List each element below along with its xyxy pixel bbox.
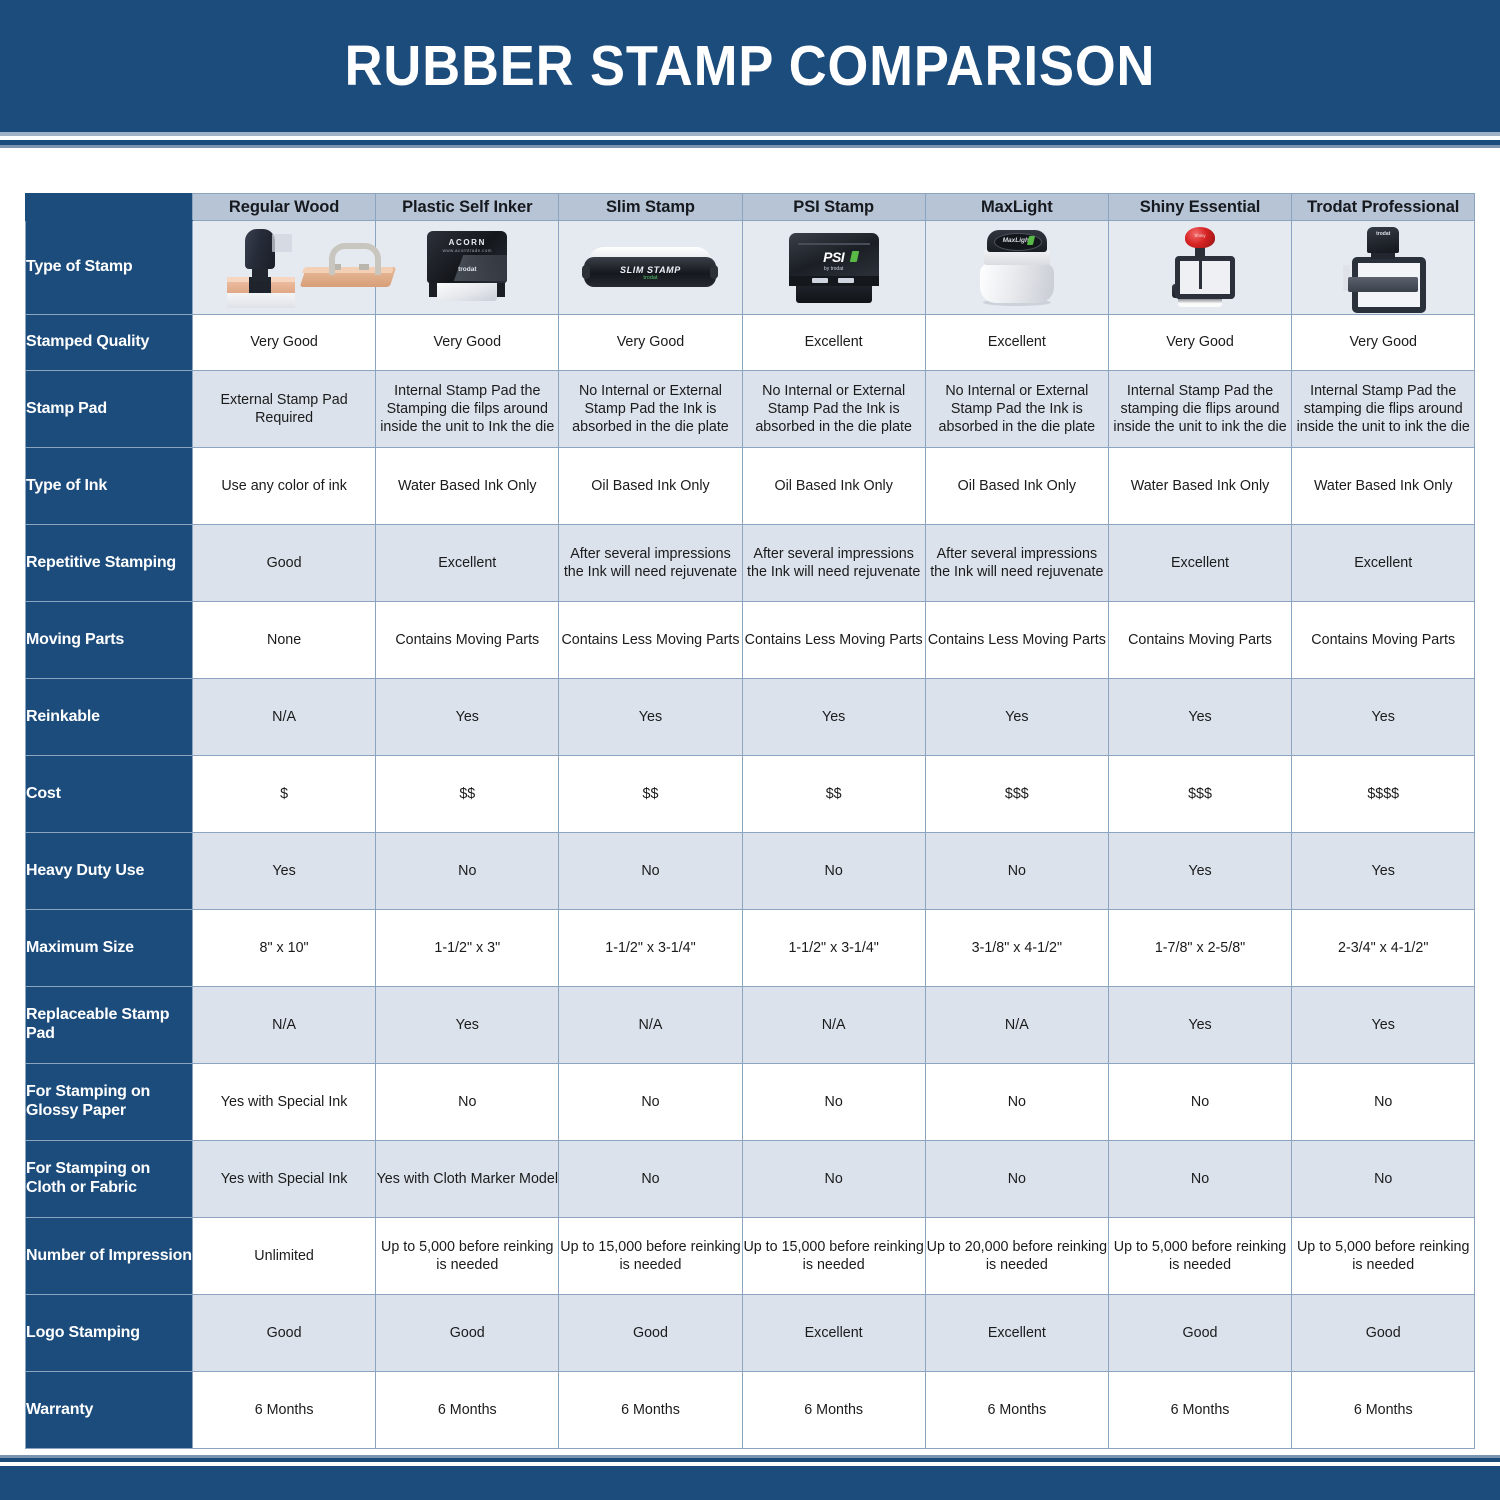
cell-replaceable-stamp-pad-plastic-self-inker: Yes [376,987,559,1064]
cell-repetitive-stamping-plastic-self-inker: Excellent [376,525,559,602]
poster-root: RUBBER STAMP COMPARISON Regular Wood Pla… [0,0,1500,1500]
cell-reinkable-shiny-essential: Yes [1108,679,1291,756]
cell-stamped-quality-regular-wood: Very Good [193,315,376,371]
column-header-maxlight[interactable]: MaxLight [925,194,1108,221]
cell-repetitive-stamping-shiny-essential: Excellent [1108,525,1291,602]
cell-replaceable-stamp-pad-slim-stamp: N/A [559,987,742,1064]
column-header-slim-stamp[interactable]: Slim Stamp [559,194,742,221]
cell-logo-stamping-slim-stamp: Good [559,1295,742,1372]
cell-logo-stamping-regular-wood: Good [193,1295,376,1372]
cell-maximum-size-regular-wood: 8" x 10" [193,910,376,987]
cell-moving-parts-plastic-self-inker: Contains Moving Parts [376,602,559,679]
cell-number-of-impression-shiny-essential: Up to 5,000 before reinking is needed [1108,1218,1291,1295]
cell-heavy-duty-use-trodat-professional: Yes [1292,833,1475,910]
table-row: Maximum Size 8" x 10" 1-1/2" x 3" 1-1/2"… [26,910,1475,987]
cell-type-of-stamp-regular-wood [193,221,376,315]
acorn-self-inking-stamp-icon: ACORN www.acorntrade.com trodat [376,221,558,314]
cell-moving-parts-psi-stamp: Contains Less Moving Parts [742,602,925,679]
cell-stamp-pad-regular-wood: External Stamp Pad Required [193,371,376,448]
cell-stamp-pad-psi-stamp: No Internal or External Stamp Pad the In… [742,371,925,448]
cell-type-of-stamp-slim-stamp: SLIM STAMP trodat [559,221,742,315]
cell-stamped-quality-maxlight: Excellent [925,315,1108,371]
table-row: Number of Impression Unlimited Up to 5,0… [26,1218,1475,1295]
cell-maximum-size-psi-stamp: 1-1/2" x 3-1/4" [742,910,925,987]
cell-cloth-fabric-maxlight: No [925,1141,1108,1218]
cell-cost-plastic-self-inker: $$ [376,756,559,833]
cell-repetitive-stamping-trodat-professional: Excellent [1292,525,1475,602]
cell-repetitive-stamping-regular-wood: Good [193,525,376,602]
cell-cloth-fabric-psi-stamp: No [742,1141,925,1218]
cell-stamp-pad-maxlight: No Internal or External Stamp Pad the In… [925,371,1108,448]
cell-stamped-quality-shiny-essential: Very Good [1108,315,1291,371]
cell-cost-trodat-professional: $$$$ [1292,756,1475,833]
column-header-psi-stamp[interactable]: PSI Stamp [742,194,925,221]
table-row: Heavy Duty Use Yes No No No No Yes Yes [26,833,1475,910]
cell-reinkable-psi-stamp: Yes [742,679,925,756]
table-row: Repetitive Stamping Good Excellent After… [26,525,1475,602]
cell-warranty-maxlight: 6 Months [925,1372,1108,1449]
cell-cloth-fabric-regular-wood: Yes with Special Ink [193,1141,376,1218]
cell-heavy-duty-use-psi-stamp: No [742,833,925,910]
row-label-for-stamping-on-cloth-or-fabric: For Stamping on Cloth or Fabric [26,1141,193,1218]
cell-type-of-stamp-plastic-self-inker: ACORN www.acorntrade.com trodat [376,221,559,315]
cell-heavy-duty-use-slim-stamp: No [559,833,742,910]
cell-heavy-duty-use-shiny-essential: Yes [1108,833,1291,910]
cell-stamp-pad-trodat-professional: Internal Stamp Pad the stamping die flip… [1292,371,1475,448]
row-label-reinkable: Reinkable [26,679,193,756]
row-label-logo-stamping: Logo Stamping [26,1295,193,1372]
cell-type-of-stamp-psi-stamp: PSI by trodat [742,221,925,315]
table-row: Type of Ink Use any color of ink Water B… [26,448,1475,525]
cell-glossy-paper-slim-stamp: No [559,1064,742,1141]
cell-stamped-quality-trodat-professional: Very Good [1292,315,1475,371]
table-row: For Stamping on Glossy Paper Yes with Sp… [26,1064,1475,1141]
cell-glossy-paper-regular-wood: Yes with Special Ink [193,1064,376,1141]
psi-sub-text: by trodat [820,266,848,272]
page-title: RUBBER STAMP COMPARISON [60,0,1440,132]
cell-reinkable-regular-wood: N/A [193,679,376,756]
cell-cloth-fabric-plastic-self-inker: Yes with Cloth Marker Model [376,1141,559,1218]
cell-cost-regular-wood: $ [193,756,376,833]
cell-glossy-paper-shiny-essential: No [1108,1064,1291,1141]
cell-type-of-stamp-maxlight: MaxLight [925,221,1108,315]
trodat-professional-stamp-icon: trodat [1292,221,1474,314]
cell-warranty-plastic-self-inker: 6 Months [376,1372,559,1449]
column-header-trodat-professional[interactable]: Trodat Professional [1292,194,1475,221]
cell-stamp-pad-shiny-essential: Internal Stamp Pad the stamping die flip… [1108,371,1291,448]
cell-stamped-quality-plastic-self-inker: Very Good [376,315,559,371]
cell-replaceable-stamp-pad-psi-stamp: N/A [742,987,925,1064]
psi-brand-text: PSI [812,249,856,266]
wood-handle-stamp-icon [193,221,375,314]
cell-logo-stamping-psi-stamp: Excellent [742,1295,925,1372]
row-label-type-of-ink: Type of Ink [26,448,193,525]
cell-warranty-trodat-professional: 6 Months [1292,1372,1475,1449]
cell-maximum-size-shiny-essential: 1-7/8" x 2-5/8" [1108,910,1291,987]
cell-heavy-duty-use-maxlight: No [925,833,1108,910]
cell-replaceable-stamp-pad-regular-wood: N/A [193,987,376,1064]
cell-cloth-fabric-trodat-professional: No [1292,1141,1475,1218]
cell-logo-stamping-trodat-professional: Good [1292,1295,1475,1372]
cell-warranty-shiny-essential: 6 Months [1108,1372,1291,1449]
table-row: Stamp Pad External Stamp Pad Required In… [26,371,1475,448]
cell-glossy-paper-maxlight: No [925,1064,1108,1141]
cell-logo-stamping-maxlight: Excellent [925,1295,1108,1372]
cell-number-of-impression-trodat-professional: Up to 5,000 before reinking is needed [1292,1218,1475,1295]
table-row: Stamped Quality Very Good Very Good Very… [26,315,1475,371]
cell-moving-parts-maxlight: Contains Less Moving Parts [925,602,1108,679]
table-row: Reinkable N/A Yes Yes Yes Yes Yes Yes [26,679,1475,756]
cell-warranty-slim-stamp: 6 Months [559,1372,742,1449]
shiny-brand-text: Shiny [1189,233,1211,239]
cell-moving-parts-slim-stamp: Contains Less Moving Parts [559,602,742,679]
comparison-table-wrapper: Regular Wood Plastic Self Inker Slim Sta… [25,193,1475,1449]
row-label-heavy-duty-use: Heavy Duty Use [26,833,193,910]
column-header-plastic-self-inker[interactable]: Plastic Self Inker [376,194,559,221]
table-corner-cell [26,194,193,221]
cell-warranty-regular-wood: 6 Months [193,1372,376,1449]
table-row: Warranty 6 Months 6 Months 6 Months 6 Mo… [26,1372,1475,1449]
slim-stamp-sub-text: trodat [630,275,670,282]
cell-number-of-impression-plastic-self-inker: Up to 5,000 before reinking is needed [376,1218,559,1295]
trodat-cap-brand-text: trodat [1371,231,1395,237]
table-row: Replaceable Stamp Pad N/A Yes N/A N/A N/… [26,987,1475,1064]
row-label-maximum-size: Maximum Size [26,910,193,987]
row-label-number-of-impression: Number of Impression [26,1218,193,1295]
cell-replaceable-stamp-pad-trodat-professional: Yes [1292,987,1475,1064]
title-banner: RUBBER STAMP COMPARISON [0,0,1500,132]
table-row: Logo Stamping Good Good Good Excellent E… [26,1295,1475,1372]
table-row: Type of Stamp [26,221,1475,315]
cell-reinkable-trodat-professional: Yes [1292,679,1475,756]
cell-stamped-quality-psi-stamp: Excellent [742,315,925,371]
cell-heavy-duty-use-plastic-self-inker: No [376,833,559,910]
cell-glossy-paper-trodat-professional: No [1292,1064,1475,1141]
table-row: Cost $ $$ $$ $$ $$$ $$$ $$$$ [26,756,1475,833]
cell-warranty-psi-stamp: 6 Months [742,1372,925,1449]
cell-type-of-ink-maxlight: Oil Based Ink Only [925,448,1108,525]
cell-type-of-ink-shiny-essential: Water Based Ink Only [1108,448,1291,525]
banner-divider-4 [0,145,1500,148]
cell-repetitive-stamping-maxlight: After several impressions the Ink will n… [925,525,1108,602]
cell-number-of-impression-slim-stamp: Up to 15,000 before reinking is needed [559,1218,742,1295]
cell-heavy-duty-use-regular-wood: Yes [193,833,376,910]
cell-cost-psi-stamp: $$ [742,756,925,833]
acorn-brand-text: ACORN [437,238,497,247]
stamp-comparison-table: Regular Wood Plastic Self Inker Slim Sta… [25,193,1475,1449]
psi-stamp-icon: PSI by trodat [743,221,925,314]
cell-maximum-size-slim-stamp: 1-1/2" x 3-1/4" [559,910,742,987]
cell-type-of-ink-trodat-professional: Water Based Ink Only [1292,448,1475,525]
cell-replaceable-stamp-pad-shiny-essential: Yes [1108,987,1291,1064]
cell-glossy-paper-psi-stamp: No [742,1064,925,1141]
cell-number-of-impression-maxlight: Up to 20,000 before reinking is needed [925,1218,1108,1295]
cell-repetitive-stamping-psi-stamp: After several impressions the Ink will n… [742,525,925,602]
cell-cost-maxlight: $$$ [925,756,1108,833]
cell-replaceable-stamp-pad-maxlight: N/A [925,987,1108,1064]
cell-cost-shiny-essential: $$$ [1108,756,1291,833]
cell-stamp-pad-plastic-self-inker: Internal Stamp Pad the Stamping die filp… [376,371,559,448]
row-label-stamp-pad: Stamp Pad [26,371,193,448]
cell-type-of-stamp-trodat-professional: trodat [1292,221,1475,315]
cell-moving-parts-regular-wood: None [193,602,376,679]
row-label-type-of-stamp: Type of Stamp [26,221,193,315]
cell-stamp-pad-slim-stamp: No Internal or External Stamp Pad the In… [559,371,742,448]
cell-moving-parts-shiny-essential: Contains Moving Parts [1108,602,1291,679]
row-label-repetitive-stamping: Repetitive Stamping [26,525,193,602]
trodat-brand-text: trodat [449,266,485,274]
cell-glossy-paper-plastic-self-inker: No [376,1064,559,1141]
cell-maximum-size-trodat-professional: 2-3/4" x 4-1/2" [1292,910,1475,987]
maxlight-round-stamp-icon: MaxLight [926,221,1108,314]
acorn-url-text: www.acorntrade.com [437,248,497,254]
footer-banner [0,1466,1500,1500]
cell-type-of-ink-plastic-self-inker: Water Based Ink Only [376,448,559,525]
table-header-row: Regular Wood Plastic Self Inker Slim Sta… [26,194,1475,221]
row-label-stamped-quality: Stamped Quality [26,315,193,371]
table-row: For Stamping on Cloth or Fabric Yes with… [26,1141,1475,1218]
row-label-warranty: Warranty [26,1372,193,1449]
cell-maximum-size-maxlight: 3-1/8" x 4-1/2" [925,910,1108,987]
cell-repetitive-stamping-slim-stamp: After several impressions the Ink will n… [559,525,742,602]
cell-type-of-ink-regular-wood: Use any color of ink [193,448,376,525]
row-label-for-stamping-on-glossy-paper: For Stamping on Glossy Paper [26,1064,193,1141]
cell-cloth-fabric-shiny-essential: No [1108,1141,1291,1218]
cell-moving-parts-trodat-professional: Contains Moving Parts [1292,602,1475,679]
column-header-regular-wood[interactable]: Regular Wood [193,194,376,221]
column-header-shiny-essential[interactable]: Shiny Essential [1108,194,1291,221]
cell-type-of-ink-slim-stamp: Oil Based Ink Only [559,448,742,525]
row-label-moving-parts: Moving Parts [26,602,193,679]
row-label-replaceable-stamp-pad: Replaceable Stamp Pad [26,987,193,1064]
cell-cloth-fabric-slim-stamp: No [559,1141,742,1218]
shiny-heavy-duty-stamp-icon: Shiny [1109,221,1291,314]
cell-reinkable-maxlight: Yes [925,679,1108,756]
cell-logo-stamping-shiny-essential: Good [1108,1295,1291,1372]
cell-cost-slim-stamp: $$ [559,756,742,833]
cell-number-of-impression-regular-wood: Unlimited [193,1218,376,1295]
cell-maximum-size-plastic-self-inker: 1-1/2" x 3" [376,910,559,987]
slim-stamp-icon: SLIM STAMP trodat [559,221,741,314]
cell-reinkable-plastic-self-inker: Yes [376,679,559,756]
row-label-cost: Cost [26,756,193,833]
cell-logo-stamping-plastic-self-inker: Good [376,1295,559,1372]
cell-type-of-ink-psi-stamp: Oil Based Ink Only [742,448,925,525]
table-row: Moving Parts None Contains Moving Parts … [26,602,1475,679]
cell-reinkable-slim-stamp: Yes [559,679,742,756]
cell-number-of-impression-psi-stamp: Up to 15,000 before reinking is needed [742,1218,925,1295]
cell-stamped-quality-slim-stamp: Very Good [559,315,742,371]
cell-type-of-stamp-shiny-essential: Shiny [1108,221,1291,315]
